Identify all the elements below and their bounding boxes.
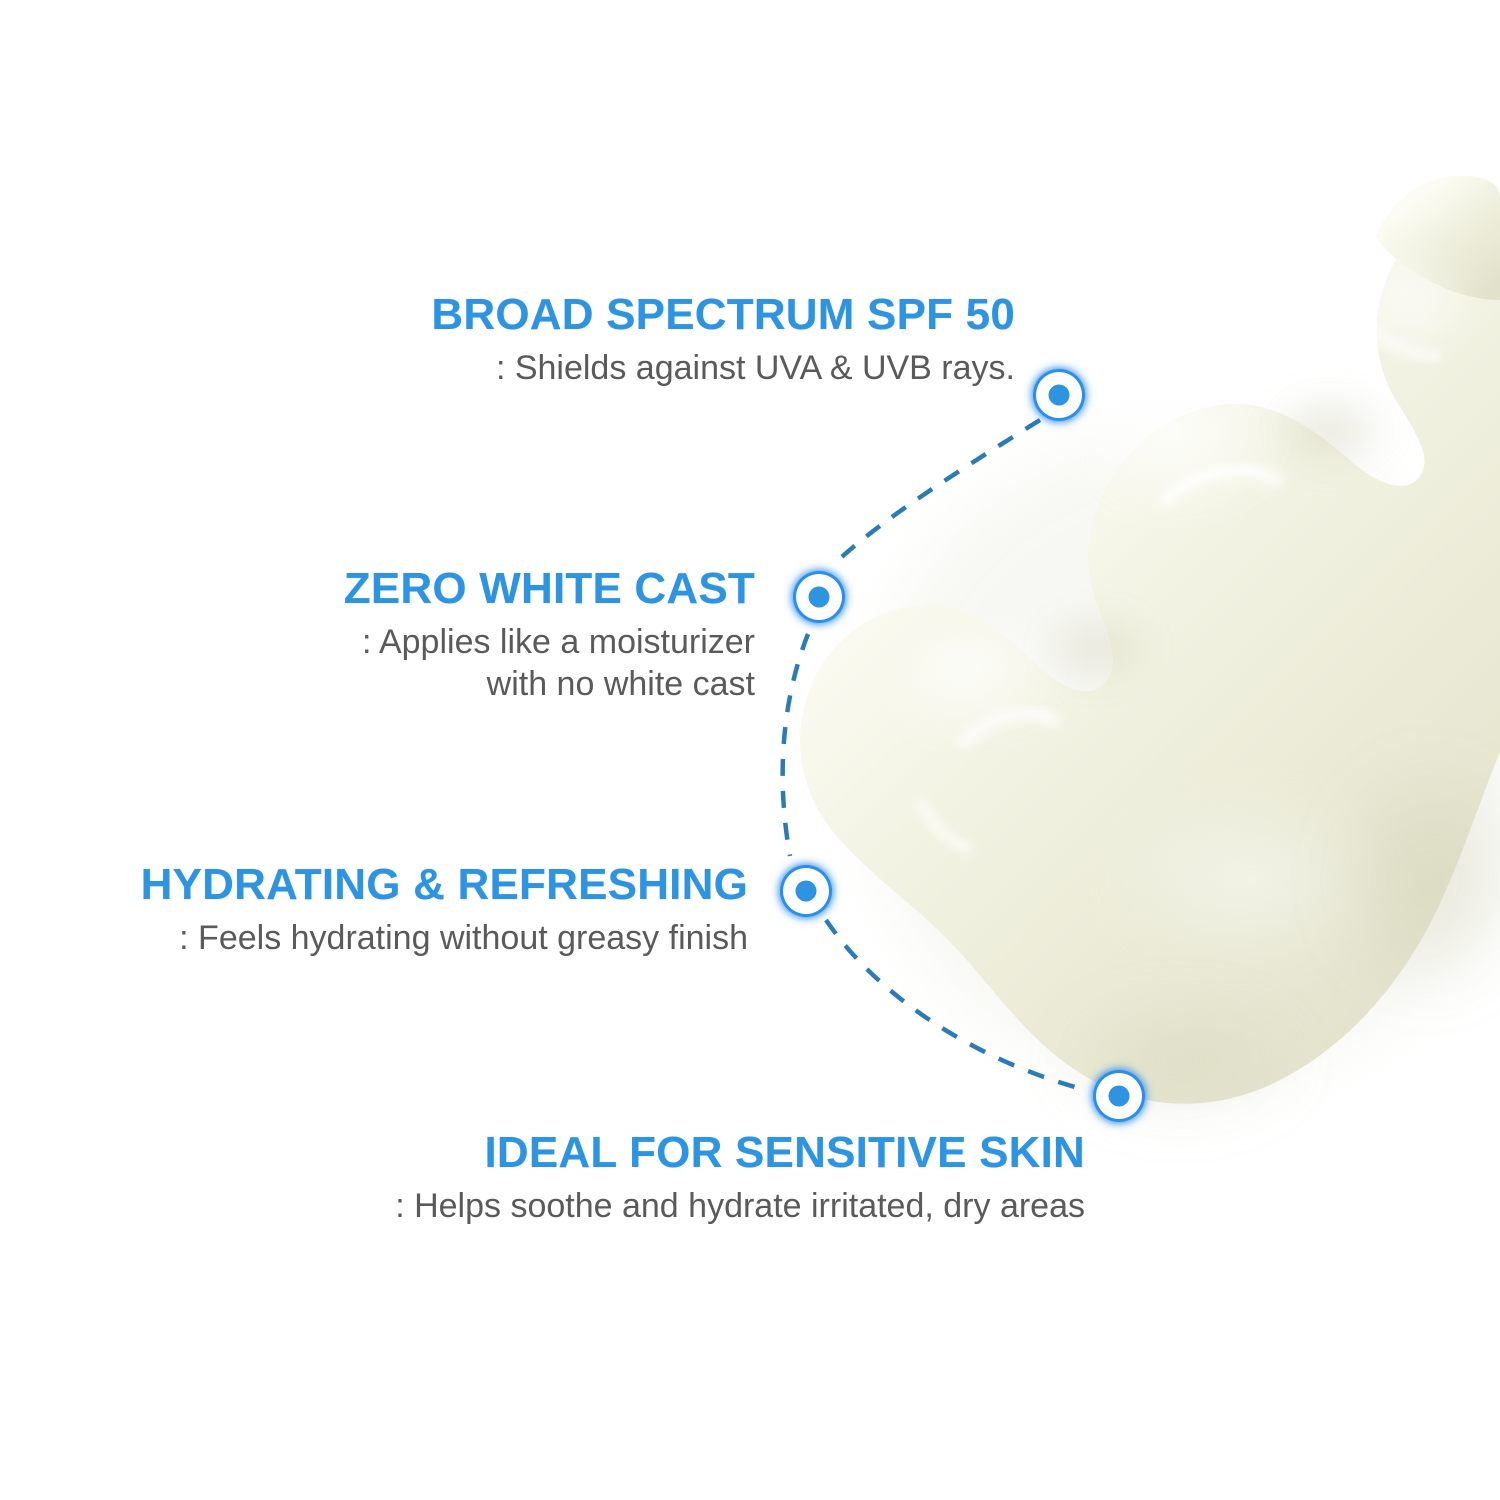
feature-description: : Shields against UVA & UVB rays. — [431, 348, 1015, 389]
marker-dot-broad-spectrum[interactable] — [1028, 364, 1090, 426]
feature-title: IDEAL FOR SENSITIVE SKIN — [395, 1130, 1085, 1176]
marker-dot-zero-white-cast[interactable] — [788, 566, 850, 628]
marker-core-icon — [1109, 1086, 1130, 1107]
feature-block-sensitive-skin: IDEAL FOR SENSITIVE SKIN : Helps soothe … — [395, 1130, 1085, 1228]
dashed-connector-path — [0, 0, 1500, 1500]
marker-core-icon — [809, 587, 830, 608]
marker-dot-sensitive-skin[interactable] — [1088, 1065, 1150, 1127]
marker-core-icon — [796, 881, 817, 902]
cream-swatch-illustration — [0, 0, 1500, 1500]
feature-description: : Helps soothe and hydrate irritated, dr… — [395, 1186, 1085, 1227]
marker-core-icon — [1049, 385, 1070, 406]
infographic-canvas: BROAD SPECTRUM SPF 50 : Shields against … — [0, 0, 1500, 1500]
feature-block-hydrating-refreshing: HYDRATING & REFRESHING : Feels hydrating… — [141, 862, 748, 960]
feature-title: BROAD SPECTRUM SPF 50 — [431, 292, 1015, 338]
feature-description: : Feels hydrating without greasy finish — [141, 918, 748, 959]
feature-description: : Applies like a moisturizer with no whi… — [344, 622, 755, 705]
feature-title: ZERO WHITE CAST — [344, 566, 755, 612]
feature-block-zero-white-cast: ZERO WHITE CAST : Applies like a moistur… — [344, 566, 755, 705]
feature-block-broad-spectrum: BROAD SPECTRUM SPF 50 : Shields against … — [431, 292, 1015, 390]
marker-dot-hydrating-refreshing[interactable] — [775, 860, 837, 922]
feature-title: HYDRATING & REFRESHING — [141, 862, 748, 908]
